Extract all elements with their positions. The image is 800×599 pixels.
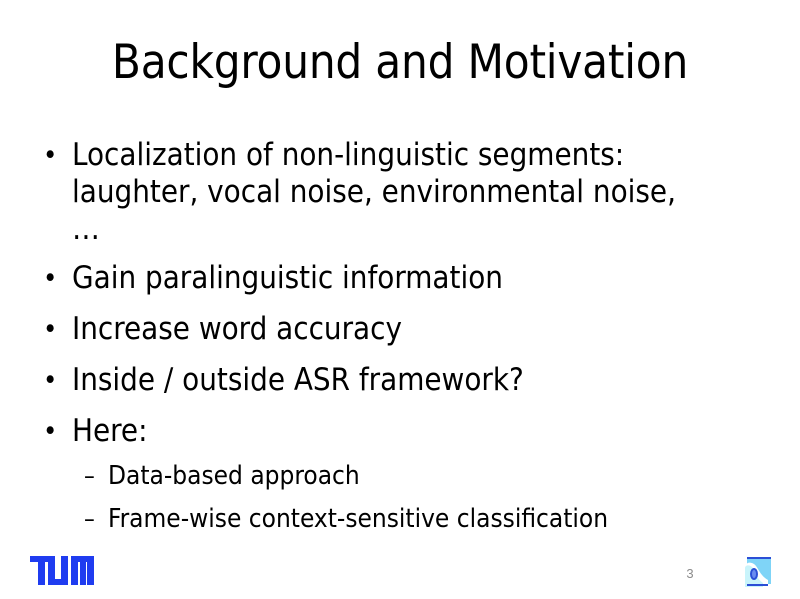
bullet-marker: • [34, 260, 72, 297]
list-item-label: Here: [72, 413, 712, 450]
bullet-marker: • [34, 362, 72, 399]
slide-number: 3 [670, 566, 710, 582]
bullet-marker: • [34, 137, 72, 174]
list-item-label: Inside / outside ASR framework? [72, 362, 712, 399]
sub-list-item-label: Data-based approach [108, 460, 764, 492]
bullet-list: • Localization of non-linguistic segment… [34, 137, 764, 546]
list-item: • Here: [34, 413, 764, 450]
list-item-label: Increase word accuracy [72, 311, 712, 348]
bullet-marker: • [34, 413, 72, 450]
tum-logo [30, 556, 94, 585]
list-item: • Increase word accuracy [34, 311, 764, 348]
list-item: • Gain paralinguistic information [34, 260, 764, 297]
list-item: • Localization of non-linguistic segment… [34, 137, 764, 248]
bullet-marker: • [34, 311, 72, 348]
dash-marker: – [84, 503, 108, 535]
list-item-label: Localization of non-linguistic segments:… [72, 137, 712, 248]
sub-list-item: – Frame-wise context-sensitive classific… [84, 503, 764, 535]
sub-list-item: – Data-based approach [84, 460, 764, 492]
page-title: Background and Motivation [0, 36, 800, 90]
dash-marker: – [84, 460, 108, 492]
list-item-label: Gain paralinguistic information [72, 260, 712, 297]
institute-logo [745, 556, 776, 588]
presentation-slide: Background and Motivation • Localization… [0, 0, 800, 599]
list-item: • Inside / outside ASR framework? [34, 362, 764, 399]
sub-list-item-label: Frame-wise context-sensitive classificat… [108, 503, 764, 535]
